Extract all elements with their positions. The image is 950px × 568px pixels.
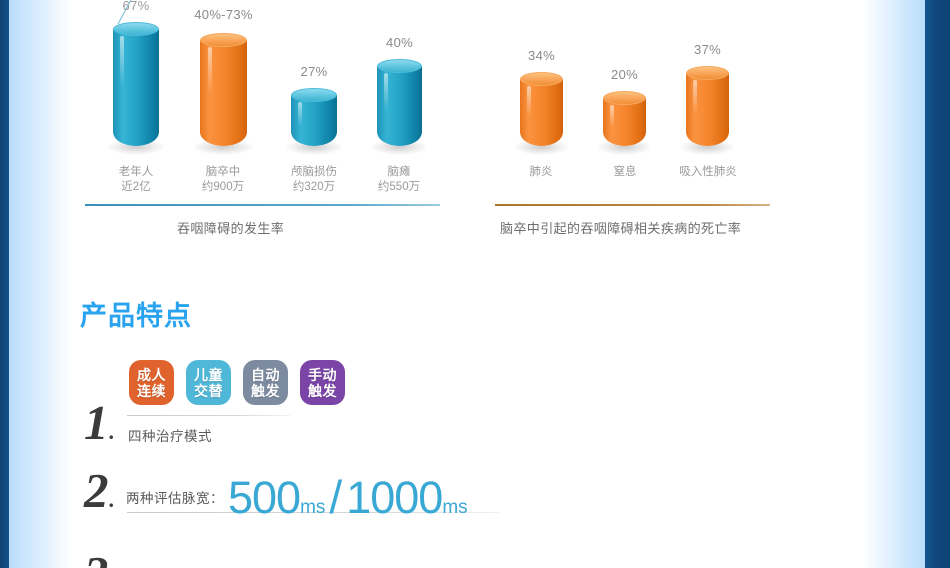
feature-number-dot: . — [109, 487, 115, 512]
treatment-mode-badges: 成人 连续 儿童 交替 自动 触发 手动 触发 — [129, 360, 345, 405]
bar-cerebral-palsy: 40% — [377, 59, 422, 146]
bar-label-elderly: 老年人 近2亿 — [119, 165, 154, 195]
bar-cap — [291, 88, 337, 102]
bar-value-cerebral-palsy: 40% — [386, 35, 413, 50]
bar-value-elderly: 67% — [123, 0, 150, 13]
bar-cap — [520, 72, 563, 86]
bar-label-line1: 脑卒中 — [202, 165, 244, 180]
page-edge-right-fade — [863, 0, 925, 568]
feature-number-dot: . — [109, 419, 115, 444]
page-root: 67% 40%-73% 27% 40% 老年人 — [0, 0, 950, 568]
bar-label-line1: 老年人 — [119, 165, 154, 180]
bar-label-line1: 脑瘫 — [378, 165, 420, 180]
bar-label-line1: 颅脑损伤 — [291, 165, 337, 180]
bar-cap — [603, 91, 646, 105]
pulse-value-2: 1000 — [346, 472, 442, 524]
chart-dysphagia-incidence: 67% 40%-73% 27% 40% 老年人 — [85, 0, 455, 250]
badge-line2: 交替 — [194, 383, 223, 399]
bar-label-line2: 约320万 — [291, 180, 337, 195]
badge-line2: 触发 — [251, 383, 280, 399]
badge-adult-continuous[interactable]: 成人 连续 — [129, 360, 174, 405]
feature-number-value: 2 — [84, 463, 109, 518]
chart-axis-line — [85, 204, 440, 206]
chart-caption-left: 吞咽障碍的发生率 — [177, 218, 284, 237]
feature-number-1: 1. — [84, 398, 114, 447]
chart-caption-right: 脑卒中引起的吞咽障碍相关疾病的死亡率 — [500, 218, 741, 237]
pulse-separator: / — [325, 470, 346, 524]
page-edge-left-dark — [0, 0, 9, 568]
bar-label-brain-injury: 颅脑损伤 约320万 — [291, 165, 337, 195]
bar-value-asphyxia: 20% — [611, 67, 638, 82]
bar-label-cerebral-palsy: 脑瘫 约550万 — [378, 165, 420, 195]
bar-gloss — [610, 105, 614, 128]
feature-text-2: 两种评估脉宽： — [126, 487, 224, 507]
pulse-value-1: 500 — [228, 472, 300, 524]
bar-value-stroke: 40%-73% — [194, 7, 252, 22]
pulse-unit-1: ms — [300, 497, 325, 519]
badge-child-alternate[interactable]: 儿童 交替 — [186, 360, 231, 405]
bar-gloss — [120, 36, 124, 88]
bar-label-stroke: 脑卒中 约900万 — [202, 165, 244, 195]
bar-label-pneumonia: 肺炎 — [530, 165, 553, 180]
badge-line1: 儿童 — [194, 367, 223, 383]
chart-axis-line — [495, 204, 770, 206]
feature-rule-1 — [127, 415, 290, 416]
pulse-width-values: 500 ms / 1000 ms — [228, 470, 468, 524]
badge-line1: 自动 — [251, 367, 280, 383]
badge-line1: 成人 — [137, 367, 166, 383]
bar-cap — [200, 33, 247, 47]
badge-line1: 手动 — [308, 367, 337, 383]
feature-text-1: 四种治疗模式 — [128, 425, 212, 445]
feature-number-value: 3 — [84, 546, 109, 568]
bar-pneumonia: 34% — [520, 72, 563, 146]
page-edge-left-fade — [9, 0, 71, 568]
bar-label-line2: 近2亿 — [119, 180, 154, 195]
bar-stroke: 40%-73% — [200, 33, 247, 146]
feature-number-3: 3. — [84, 549, 114, 568]
bar-label-aspiration-pneumonia: 吸入性肺炎 — [679, 165, 737, 180]
feature-number-value: 1 — [84, 395, 109, 450]
bar-label-line2: 约550万 — [378, 180, 420, 195]
pulse-unit-2: ms — [442, 497, 467, 519]
feature-number-2: 2. — [84, 466, 114, 515]
bar-cap — [377, 59, 422, 73]
bar-cap — [113, 22, 159, 36]
bar-aspiration-pneumonia: 37% — [686, 66, 729, 146]
bar-gloss — [693, 80, 697, 114]
bar-label-asphyxia: 窒息 — [614, 165, 637, 180]
badge-line2: 触发 — [308, 383, 337, 399]
bar-label-line2: 约900万 — [202, 180, 244, 195]
bar-value-pneumonia: 34% — [528, 48, 555, 63]
bar-cap — [686, 66, 729, 80]
bar-value-brain-injury: 27% — [301, 64, 328, 79]
page-title: 产品特点 — [80, 294, 192, 333]
badge-auto-trigger[interactable]: 自动 触发 — [243, 360, 288, 405]
bar-gloss — [384, 73, 388, 110]
bar-brain-injury: 27% — [291, 88, 337, 146]
chart-stroke-mortality: 34% 20% 37% 肺炎 窒息 吸入性肺炎 脑卒中引起的吞咽障碍相关疾病的死… — [495, 0, 805, 250]
bar-gloss — [298, 102, 302, 126]
bar-elderly: 67% — [113, 22, 159, 146]
bar-asphyxia: 20% — [603, 91, 646, 146]
bar-value-aspiration-pneumonia: 37% — [694, 42, 721, 57]
page-edge-right-dark — [925, 0, 950, 568]
bar-gloss — [527, 86, 531, 117]
bar-gloss — [208, 47, 212, 94]
badge-manual-trigger[interactable]: 手动 触发 — [300, 360, 345, 405]
badge-line2: 连续 — [137, 383, 166, 399]
